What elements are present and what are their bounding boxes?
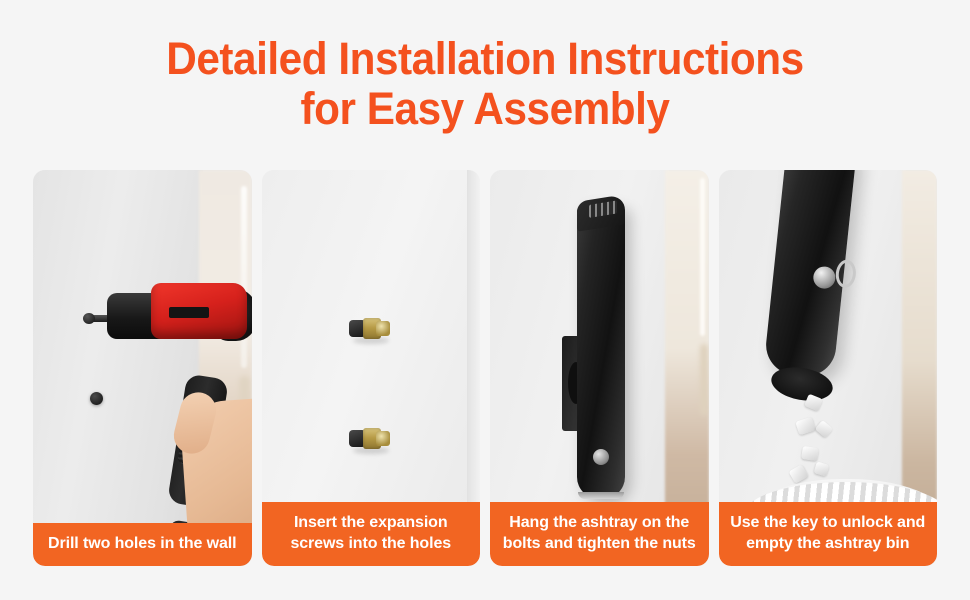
lock-icon	[812, 266, 836, 290]
drill-brand-logo	[169, 307, 209, 318]
expansion-screw-upper	[349, 317, 391, 341]
window-icon	[241, 186, 248, 368]
page-title-line-1: Detailed Installation Instructions	[29, 34, 941, 84]
screw-nut	[376, 431, 390, 446]
drilled-hole	[90, 392, 103, 405]
ashtray-bottom-rim	[578, 492, 624, 499]
step-card-1: Drill two holes in the wall	[33, 170, 252, 566]
wall-surface	[33, 170, 203, 566]
step-caption-3: Hang the ashtray on the bolts and tighte…	[490, 502, 709, 566]
drill-body	[151, 283, 247, 339]
page-title-line-2: for Easy Assembly	[29, 84, 941, 134]
ashtray-grate-icon	[590, 200, 618, 217]
step-caption-4: Use the key to unlock and empty the asht…	[719, 502, 938, 566]
step-card-3: Hang the ashtray on the bolts and tighte…	[490, 170, 709, 566]
expansion-screw-lower	[349, 427, 391, 451]
ashtray-cylinder	[577, 202, 625, 499]
step-caption-2: Insert the expansion screws into the hol…	[262, 502, 481, 566]
screw-nut	[376, 321, 390, 336]
installation-steps-row: Drill two holes in the wall Insert the e…	[33, 170, 937, 566]
step-caption-1: Drill two holes in the wall	[33, 523, 252, 566]
step-card-2: Insert the expansion screws into the hol…	[262, 170, 481, 566]
cigarette-butt	[801, 446, 819, 461]
window-icon	[700, 178, 705, 336]
step-card-4: Use the key to unlock and empty the asht…	[719, 170, 938, 566]
lock-icon	[593, 449, 609, 465]
step-image-1	[33, 170, 252, 566]
page-title: Detailed Installation Instructions for E…	[0, 0, 970, 134]
sofa-shape	[700, 344, 708, 415]
